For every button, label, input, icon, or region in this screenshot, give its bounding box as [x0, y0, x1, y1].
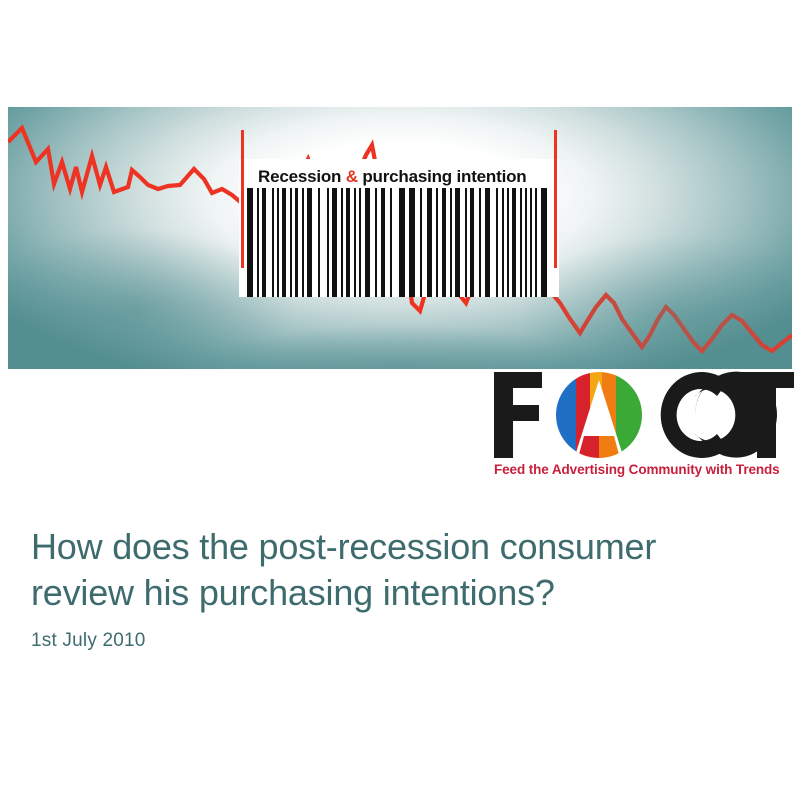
barcode-right-edge-line	[554, 130, 557, 268]
title-slide: Recession & purchasing intention	[0, 0, 800, 800]
barcode-title: Recession & purchasing intention	[258, 165, 540, 189]
barcode-title-part2: purchasing intention	[358, 167, 527, 186]
barcode-left-edge-line	[241, 130, 244, 268]
page-title: How does the post-recession consumer rev…	[31, 524, 751, 616]
barcode-bars	[239, 188, 559, 297]
barcode-title-part1: Recession	[258, 167, 346, 186]
logo-letter-f	[494, 372, 542, 458]
page-title-line-2: review his purchasing intentions?	[31, 570, 751, 616]
fact-logo-mark: Feed the Advertising Community with Tren…	[488, 366, 794, 478]
logo-tagline: Feed the Advertising Community with Tren…	[494, 462, 780, 477]
logo-letter-c-shape	[661, 372, 728, 458]
barcode-graphic: Recession & purchasing intention	[239, 159, 559, 297]
logo-letter-a-mark	[556, 372, 642, 462]
fact-logo: Feed the Advertising Community with Tren…	[488, 366, 794, 478]
barcode-title-ampersand: &	[346, 167, 358, 186]
page-title-line-1: How does the post-recession consumer	[31, 526, 656, 567]
presentation-date: 1st July 2010	[31, 629, 146, 653]
